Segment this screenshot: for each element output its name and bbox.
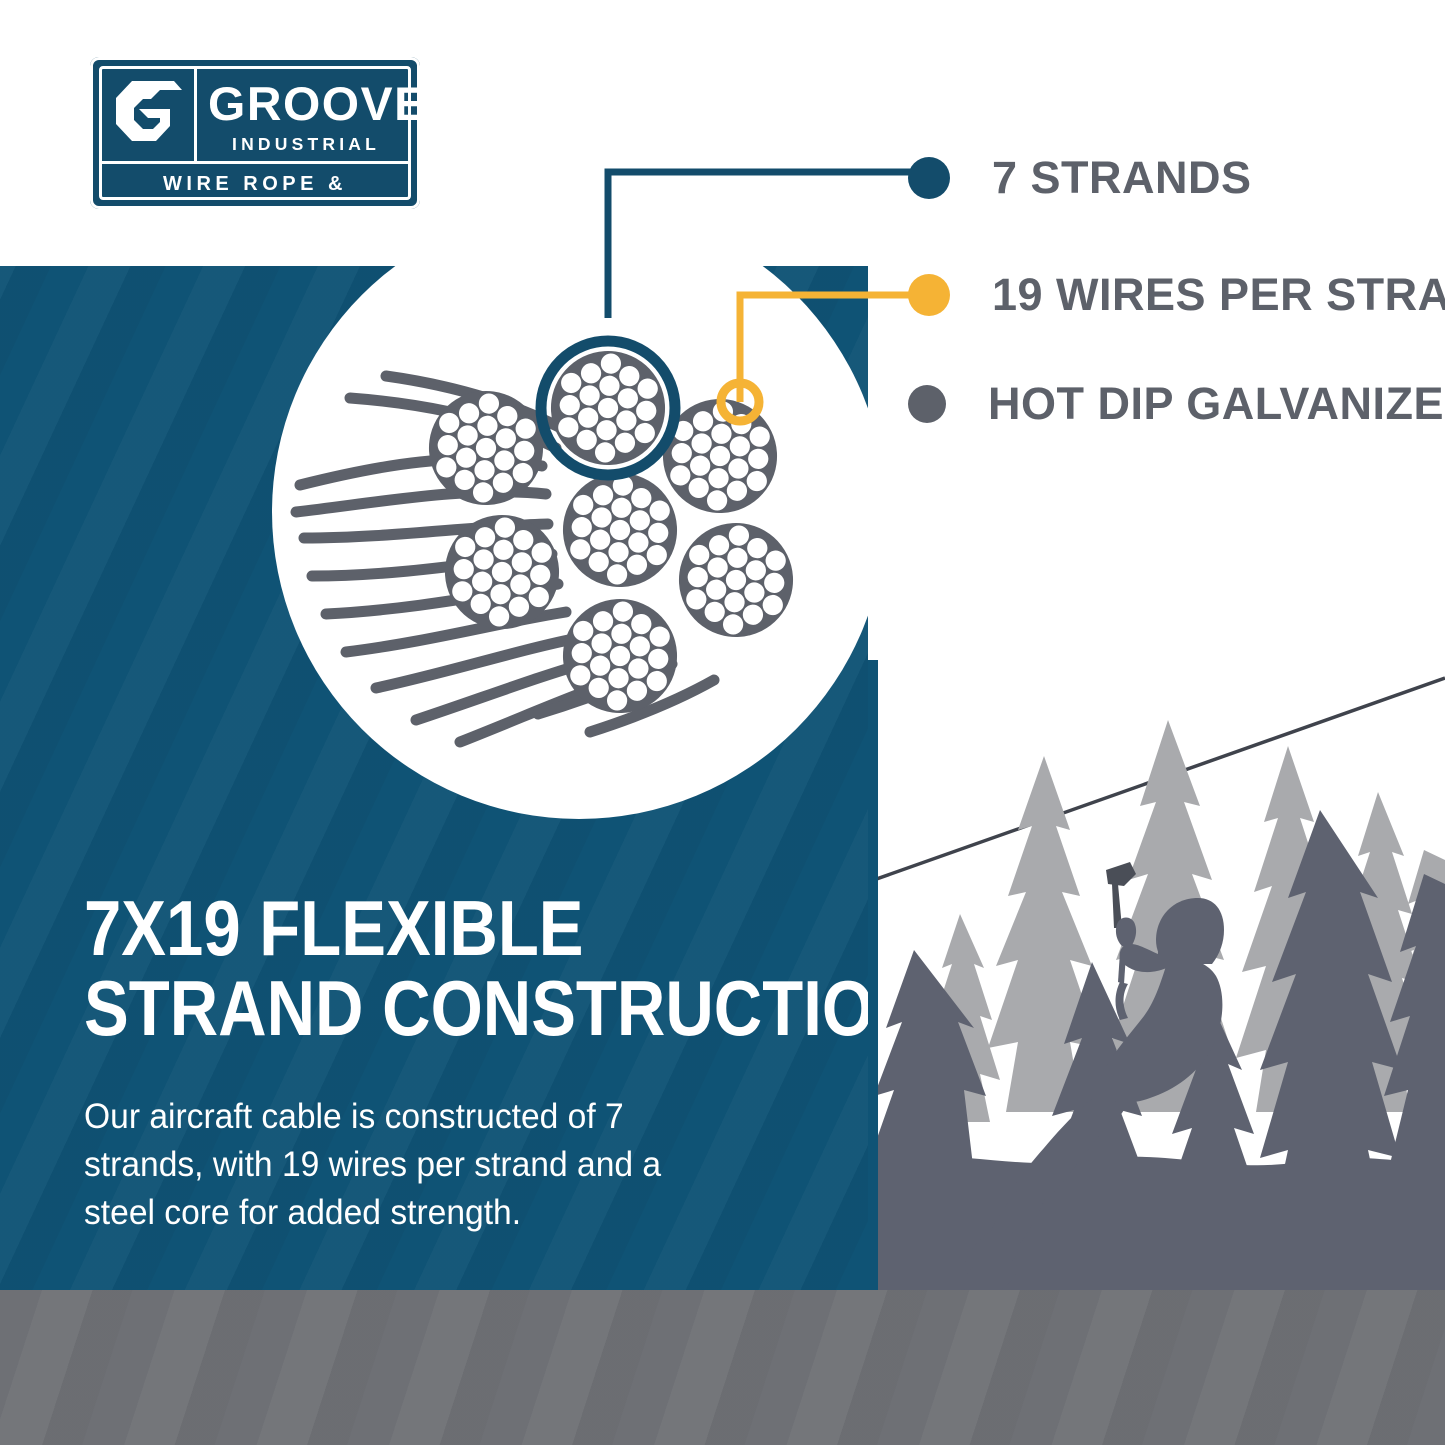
infographic-page: GROOVE INDUSTRIAL WIRE ROPE & RIGGING — [0, 0, 1445, 1445]
callout-label-galvanized: HOT DIP GALVANIZED — [988, 378, 1445, 429]
scene-left-edge-strip — [868, 660, 878, 1292]
callout-wires-per-strand: 19 WIRES PER STRAND — [908, 272, 1445, 317]
headline-line-2: STRAND CONSTRUCTION — [84, 968, 738, 1048]
zipline-scene — [868, 660, 1445, 1292]
callout-leader-lines — [0, 0, 1445, 700]
leader-line-wires — [740, 295, 918, 402]
callout-dot-icon — [908, 274, 950, 316]
page-headline: 7X19 FLEXIBLE STRAND CONSTRUCTION — [84, 888, 738, 1048]
callout-dot-icon — [908, 385, 946, 423]
callout-galvanized: HOT DIP GALVANIZED — [908, 381, 1445, 426]
bottom-wave-texture — [0, 1290, 1445, 1445]
headline-line-1: 7X19 FLEXIBLE — [84, 888, 738, 968]
bottom-gray-band — [0, 1290, 1445, 1445]
callout-dot-icon — [908, 157, 950, 199]
callout-strands: 7 STRANDS — [908, 155, 1252, 200]
callout-label-strands: 7 STRANDS — [992, 152, 1252, 203]
body-description: Our aircraft cable is constructed of 7 s… — [84, 1093, 718, 1237]
callout-label-wires: 19 WIRES PER STRAND — [992, 269, 1445, 320]
